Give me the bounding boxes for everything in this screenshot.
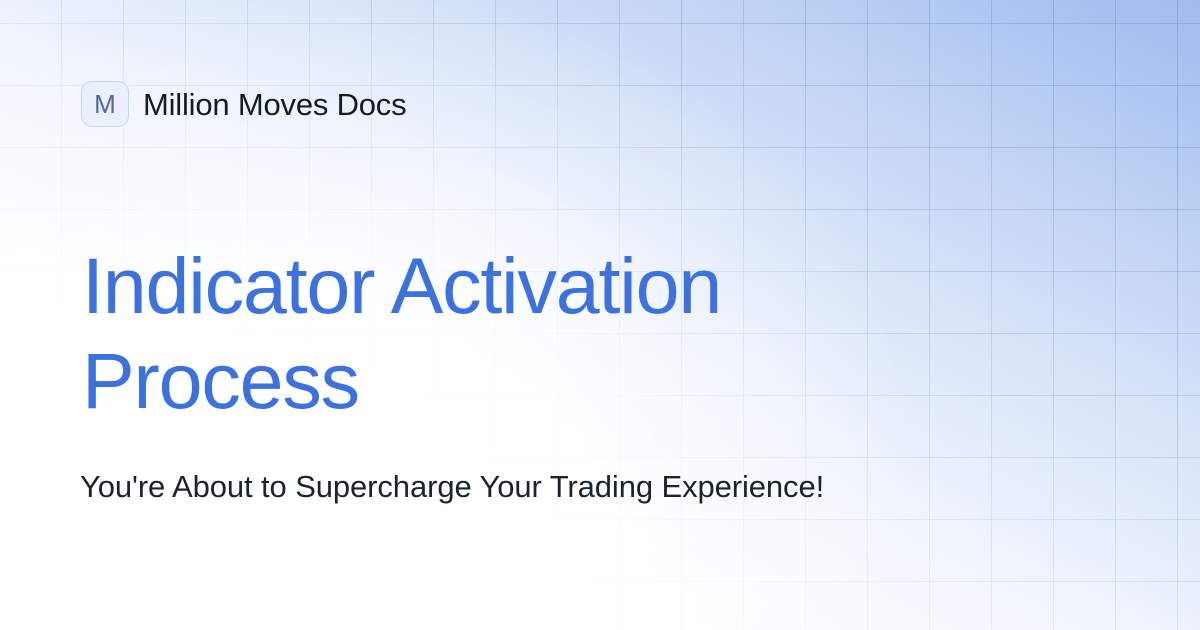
- card-content: M Million Moves Docs Indicator Activatio…: [0, 0, 1200, 630]
- brand-name: Million Moves Docs: [143, 89, 406, 120]
- page-title: Indicator Activation Process: [82, 238, 972, 428]
- brand-lockup: M Million Moves Docs: [81, 81, 406, 127]
- brand-badge-letter: M: [94, 91, 116, 117]
- letter-m-badge-icon: M: [81, 81, 129, 127]
- og-card: M Million Moves Docs Indicator Activatio…: [0, 0, 1200, 630]
- page-subtitle: You're About to Supercharge Your Trading…: [80, 466, 870, 507]
